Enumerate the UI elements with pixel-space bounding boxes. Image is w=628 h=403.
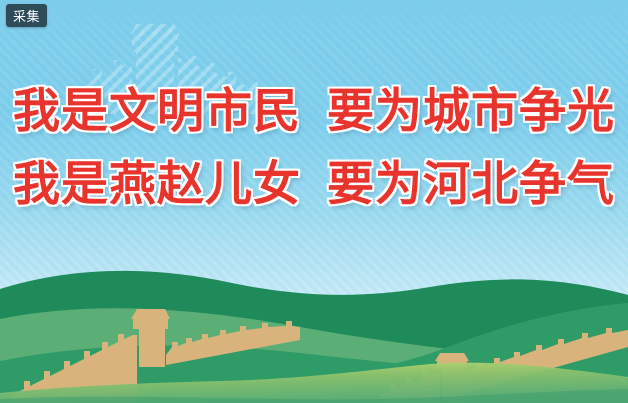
sky-great-wall-silhouette-icon bbox=[78, 18, 378, 118]
banner-screenshot: 我是文明市民要为城市争光 我是燕赵儿女要为河北争气 采集 bbox=[0, 0, 628, 403]
capture-button[interactable]: 采集 bbox=[6, 4, 47, 27]
landscape-illustration bbox=[0, 243, 628, 403]
